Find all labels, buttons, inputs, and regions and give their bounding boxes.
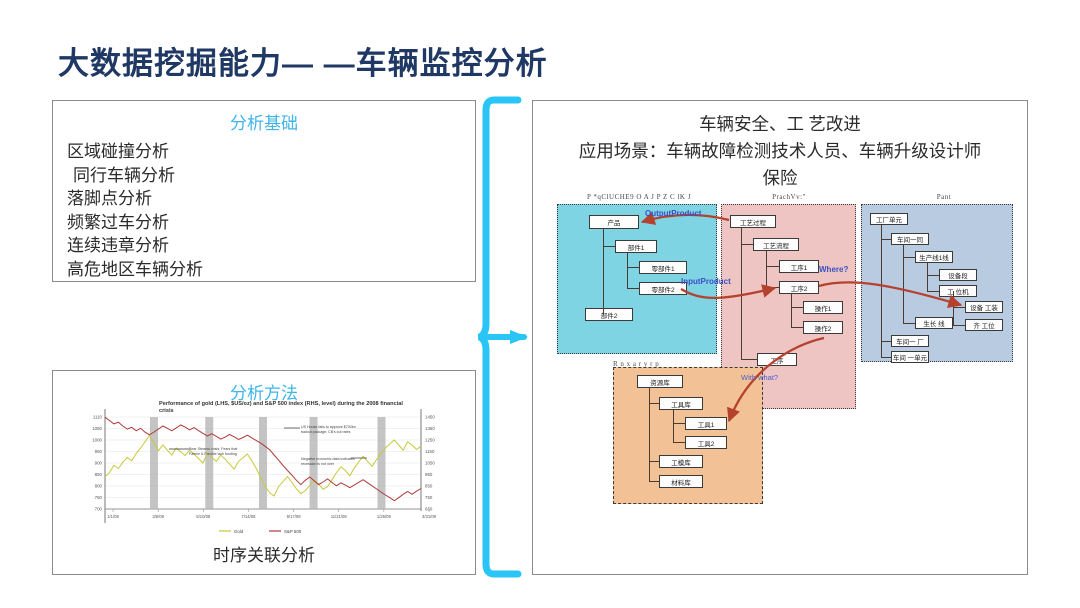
node-process-flow: 工艺流程 [753, 238, 799, 251]
node-product-root: 产品 [589, 215, 639, 229]
svg-text:750: 750 [95, 495, 103, 500]
connector [741, 244, 754, 245]
connector [649, 481, 660, 482]
svg-text:Gold: Gold [234, 529, 244, 534]
arrow-label-with-what: With what? [741, 373, 778, 382]
node-plant-position: 齐 工位 [965, 319, 1003, 331]
analysis-basis-panel: 分析基础 区域碰撞分析 同行车辆分析 落脚点分析 频繁过车分析 连续违章分析 高… [52, 100, 476, 282]
list-item: 落脚点分析 [67, 187, 475, 211]
page-title: 大数据挖掘能力— —车辆监控分析 [58, 38, 548, 83]
connector [673, 423, 686, 424]
connector [881, 341, 892, 342]
node-plant-equipment: 设备段 [939, 269, 977, 281]
application-scenario-heading: 车辆安全、工 艺改进 应用场景：车辆故障检测技术人员、车辆升级设计师 保险 [533, 101, 1027, 192]
svg-text:1110: 1110 [93, 415, 103, 420]
analysis-method-heading: 分析方法 [53, 371, 475, 404]
svg-text:1450: 1450 [425, 415, 435, 420]
connector [627, 267, 640, 268]
connector [649, 388, 650, 481]
svg-text:1000: 1000 [92, 438, 102, 443]
svg-text:950: 950 [95, 449, 103, 454]
connector [903, 323, 916, 324]
connector [741, 228, 742, 359]
connector [927, 291, 940, 292]
svg-text:1/25/09: 1/25/09 [377, 514, 392, 519]
connector [766, 266, 780, 267]
node-resource-moldbase: 工模库 [659, 455, 703, 468]
connector [791, 327, 804, 328]
node-process-op2: 操作2 [803, 321, 843, 334]
connector [766, 251, 767, 288]
node-resource-root: 资源库 [637, 375, 683, 388]
svg-text:11/21/08: 11/21/08 [331, 514, 348, 519]
node-resource-tool2: 工具2 [685, 436, 727, 449]
connector [766, 287, 780, 288]
connector [603, 246, 616, 247]
connector [881, 357, 892, 358]
svg-text:1150: 1150 [425, 449, 435, 454]
region-label-plant: Pant [889, 193, 999, 201]
analysis-basis-heading: 分析基础 [53, 101, 475, 134]
connector [649, 403, 660, 404]
node-product-subpart1: 零部件1 [639, 261, 687, 274]
connector [927, 275, 940, 276]
node-plant-workshop: 车间一同 [891, 233, 929, 245]
node-process-step: 工序 [757, 353, 797, 366]
connector [881, 239, 892, 240]
region-plant [861, 204, 1013, 362]
connector [881, 225, 882, 357]
list-item: 高危地区车辆分析 [67, 258, 475, 282]
node-process-step2: 工序2 [779, 281, 819, 294]
node-process-step1: 工序1 [779, 260, 819, 273]
node-plant-line: 生产线1线 [915, 251, 953, 263]
list-item: 连续违章分析 [67, 234, 475, 258]
svg-text:1350: 1350 [425, 426, 435, 431]
svg-text:950: 950 [425, 472, 433, 477]
node-product-part2: 部件2 [585, 308, 633, 321]
svg-text:9/17/08: 9/17/08 [287, 514, 302, 519]
svg-text:3/6/08: 3/6/08 [152, 514, 164, 519]
svg-text:700: 700 [95, 507, 103, 512]
manufacturing-model-diagram: P *qClUCHE9 O A J P Z C lK J PrachVv:" P… [541, 193, 1021, 523]
analysis-method-panel: 分析方法 Performance of gold (LHS, $US/oz) a… [52, 370, 476, 575]
connector [791, 294, 792, 328]
gold-sp500-chart: Performance of gold (LHS, $US/oz) and S&… [69, 401, 461, 536]
connector [741, 359, 758, 360]
connector [603, 314, 604, 315]
analysis-method-caption: 时序关联分析 [53, 541, 475, 566]
svg-text:800: 800 [95, 484, 103, 489]
node-process-op1: 操作1 [803, 301, 843, 314]
connector [603, 229, 604, 315]
connector [791, 307, 804, 308]
svg-text:7/14/08: 7/14/08 [241, 514, 256, 519]
arrow-label-output-product: OutputProduct [645, 209, 701, 218]
heading-line-3: 保险 [533, 165, 1027, 192]
analysis-basis-list: 区域碰撞分析 同行车辆分析 落脚点分析 频繁过车分析 连续违章分析 高危地区车辆… [53, 140, 475, 281]
heading-line-1: 车辆安全、工 艺改进 [533, 111, 1027, 138]
node-plant-unit: 工厂单元 [870, 213, 908, 225]
region-label-product: P *qClUCHE9 O A J P Z C lK J [559, 193, 719, 201]
cyan-bracket-connector [478, 96, 534, 578]
svg-text:1050: 1050 [92, 426, 102, 431]
connector [673, 410, 674, 443]
connector [953, 325, 966, 326]
connector [649, 461, 660, 462]
arrow-label-input-product: InputProduct [681, 277, 731, 286]
connector [903, 257, 916, 258]
node-resource-tool1: 工具1 [685, 417, 727, 430]
node-product-subpart2: 零部件2 [639, 282, 687, 295]
heading-line-2: 应用场景：车辆故障检测技术人员、车辆升级设计师 [533, 138, 1027, 165]
application-scenario-panel: 车辆安全、工 艺改进 应用场景：车辆故障检测技术人员、车辆升级设计师 保险 P … [532, 100, 1028, 575]
connector [927, 263, 928, 291]
svg-text:750: 750 [425, 495, 433, 500]
svg-text:850: 850 [95, 472, 103, 477]
chart-title: Performance of gold (LHS, $US/oz) and S&… [159, 401, 409, 415]
svg-text:1/1/08: 1/1/08 [107, 514, 119, 519]
node-process-root: 工艺过程 [730, 215, 776, 228]
connector [953, 307, 966, 308]
connector [627, 253, 628, 289]
node-plant-subunit: 车间 一单元 [891, 351, 929, 363]
node-plant-growline: 生长 线 [915, 317, 953, 329]
node-product-part1: 部件1 [615, 240, 657, 253]
svg-text:1050: 1050 [425, 461, 435, 466]
list-item: 区域碰撞分析 [67, 140, 475, 164]
svg-text:3/31/09: 3/31/09 [422, 514, 437, 519]
svg-text:1250: 1250 [425, 438, 435, 443]
node-plant-station: 工 位机 [939, 285, 977, 297]
connector [627, 288, 640, 289]
svg-text:5/10/08: 5/10/08 [196, 514, 211, 519]
connector [673, 442, 686, 443]
svg-text:900: 900 [95, 461, 103, 466]
list-item: 频繁过车分析 [67, 211, 475, 235]
chart-svg: 1110145010501350100012509501150900105085… [69, 401, 461, 536]
svg-text:S&P 500: S&P 500 [284, 529, 302, 534]
svg-text:850: 850 [425, 484, 433, 489]
arrow-label-where: Where? [819, 265, 848, 274]
node-plant-tooling: 设备 工装 [965, 301, 1003, 313]
node-resource-toolbase: 工具库 [659, 397, 703, 410]
node-plant-factory: 车间一 厂 [891, 335, 929, 347]
list-item: 同行车辆分析 [67, 164, 475, 188]
region-label-process: PrachVv:" [729, 193, 849, 201]
node-resource-materialbase: 材料库 [659, 475, 703, 488]
